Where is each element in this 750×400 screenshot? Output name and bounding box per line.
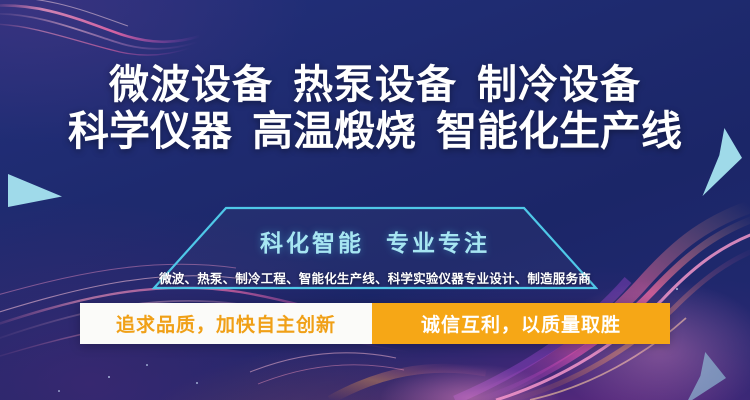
sparkle-dot [676,288,678,290]
headline-line1-part2: 热泵设备 [293,63,457,107]
headline-line-2: 科学仪器高温煅烧智能化生产线 [0,108,750,154]
headline-block: 微波设备热泵设备制冷设备 科学仪器高温煅烧智能化生产线 [0,62,750,154]
headline-line2-part1: 科学仪器 [68,108,232,154]
sparkle-dot [108,376,110,378]
right-chevron-secondary-icon [686,352,726,400]
slogan-badge: 科化智能专业专注 微波、热泵、制冷工程、智能化生产线、科学实验仪器专业设计、制造… [152,206,598,290]
headline-line1-part1: 微波设备 [109,63,273,107]
headline-line2-part2: 高温煅烧 [252,108,416,154]
headline-line2-part3: 智能化生产线 [436,108,682,154]
badge-subtitle: 微波、热泵、制冷工程、智能化生产线、科学实验仪器专业设计、制造服务商 [159,268,591,287]
slogan-part-2: 专业专注 [386,230,490,256]
headline-line-1: 微波设备热泵设备制冷设备 [0,62,750,108]
tagline-bars: 追求品质，加快自主创新 诚信互利，以质量取胜 [80,303,670,344]
tagline-bar-right: 诚信互利，以质量取胜 [372,303,670,344]
left-arrow-icon [8,174,62,207]
sparkle-dot [146,364,148,366]
tagline-bar-left: 追求品质，加快自主创新 [80,303,372,344]
sparkle-dot [58,390,60,392]
sparkle-dot [196,382,198,384]
headline-line1-part3: 制冷设备 [477,63,641,107]
promo-banner: 微波设备热泵设备制冷设备 科学仪器高温煅烧智能化生产线 科化智能专业专注 微波、… [0,0,750,400]
slogan-part-1: 科化智能 [260,230,364,256]
slogan-text: 科化智能专业专注 [260,224,490,258]
